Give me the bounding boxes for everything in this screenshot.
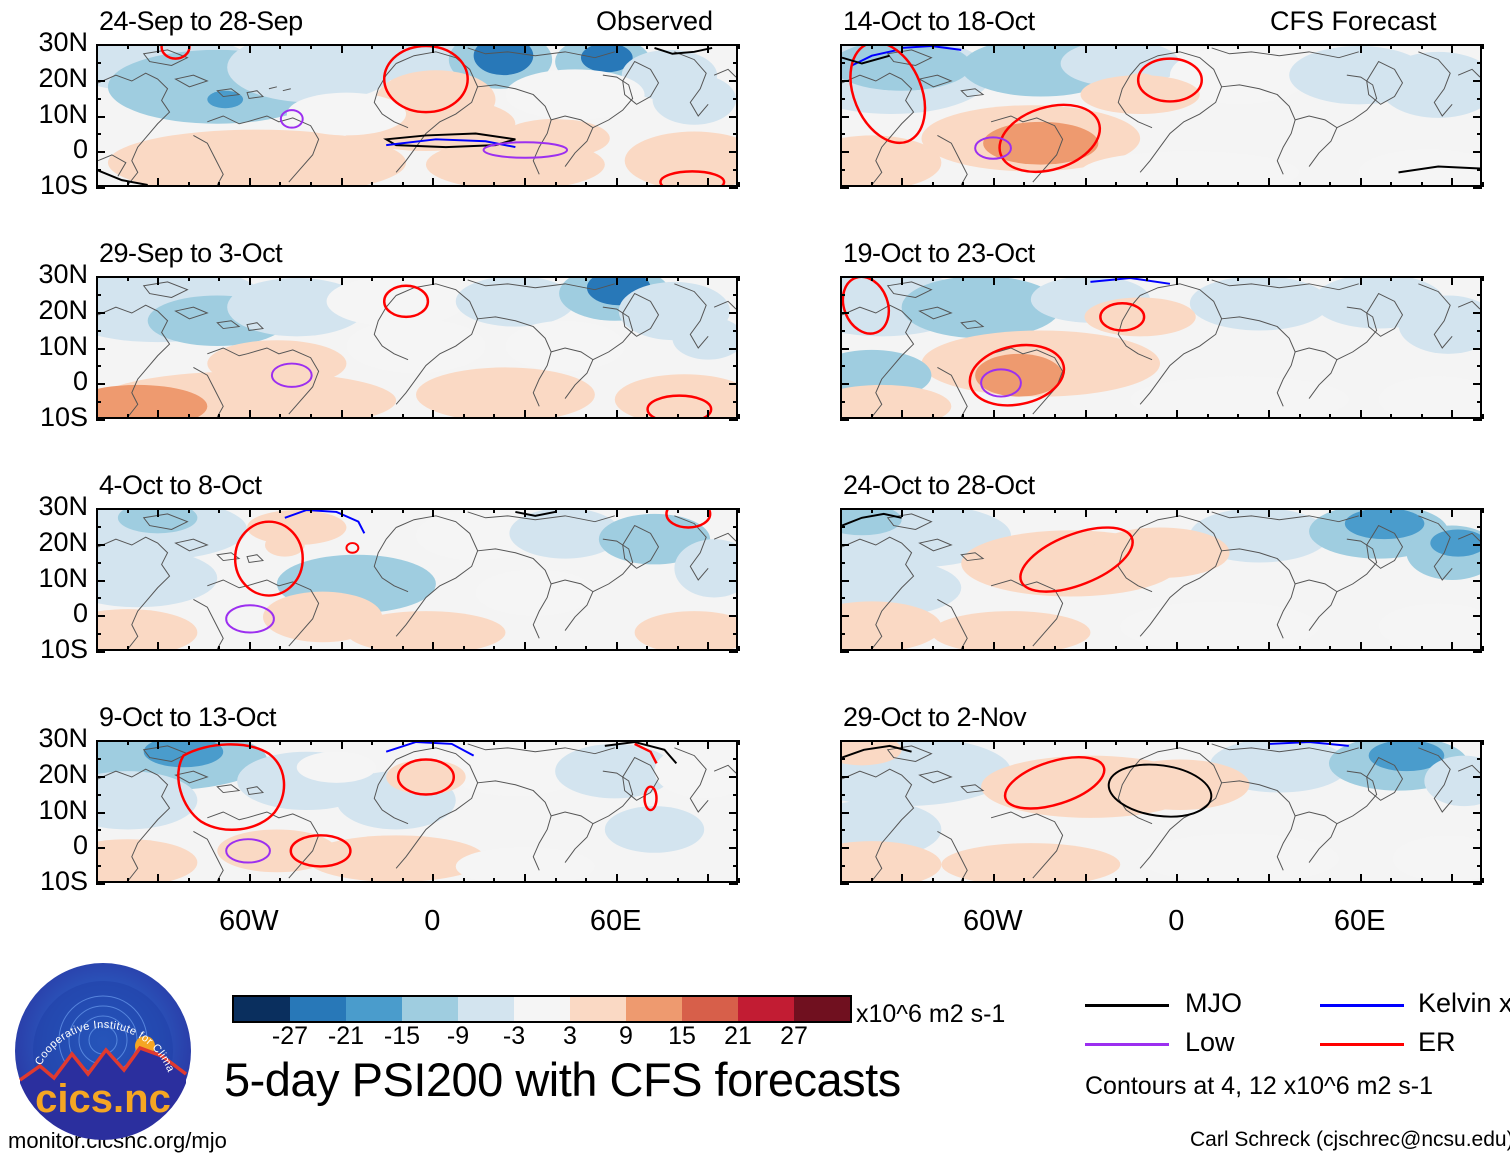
tick-mark [840, 133, 845, 135]
map-fcst-3 [842, 510, 1480, 649]
tick-mark [1268, 410, 1270, 419]
y-tick-label-10S-row2: 10S [0, 402, 88, 433]
tick-mark [932, 740, 934, 745]
tick-mark [1390, 508, 1392, 513]
tick-mark [1360, 874, 1362, 883]
tick-mark [585, 646, 587, 651]
colorbar-tick-3: 3 [540, 1022, 600, 1051]
tick-mark [96, 348, 105, 350]
tick-mark [733, 133, 738, 135]
tick-mark [1390, 878, 1392, 883]
colorbar-swatch-1[interactable] [290, 997, 346, 1021]
tick-mark [1421, 276, 1423, 281]
tick-mark [1146, 878, 1148, 883]
tick-mark [1115, 414, 1117, 419]
tick-mark [729, 651, 738, 653]
tick-mark [840, 401, 845, 403]
tick-mark [96, 330, 101, 332]
tick-mark [733, 98, 738, 100]
tick-mark [646, 44, 648, 49]
map-panel-fcst-4[interactable] [840, 740, 1482, 883]
colorbar-tick-9: 9 [596, 1022, 656, 1051]
y-tick-label-20N-row2: 20N [0, 295, 88, 326]
tick-mark [871, 276, 873, 281]
tick-mark [1329, 740, 1331, 745]
tick-mark [840, 883, 849, 885]
tick-mark [96, 401, 101, 403]
tick-mark [1299, 646, 1301, 651]
tick-mark [1054, 276, 1056, 281]
legend-line-mjo [1085, 1004, 1169, 1007]
tick-mark [840, 294, 845, 296]
colorbar-swatch-3[interactable] [402, 997, 458, 1021]
tick-mark [127, 646, 129, 651]
tick-mark [402, 740, 404, 745]
tick-mark [707, 410, 709, 419]
tick-mark [993, 874, 995, 883]
tick-mark [96, 633, 101, 635]
tick-mark [1482, 44, 1484, 49]
tick-mark [96, 847, 105, 849]
tick-mark [96, 80, 105, 82]
tick-mark [1054, 182, 1056, 187]
tick-mark [646, 508, 648, 513]
tick-mark [218, 414, 220, 419]
tick-mark [1115, 182, 1117, 187]
tick-mark [1477, 169, 1482, 171]
tick-mark [962, 276, 964, 281]
tick-mark [1268, 44, 1270, 53]
tick-mark [1482, 182, 1484, 187]
tick-mark [646, 878, 648, 883]
tick-mark [840, 597, 845, 599]
map-obs-3 [98, 510, 736, 649]
y-tick-label-0-row1: 0 [0, 134, 88, 165]
tick-mark [1451, 740, 1453, 749]
tick-mark [616, 276, 618, 285]
legend-label-er: ER [1418, 1027, 1456, 1058]
tick-mark [463, 182, 465, 187]
tick-mark [932, 276, 934, 281]
tick-mark [463, 276, 465, 281]
tick-mark [1237, 276, 1239, 281]
column-header-forecast: CFS Forecast [1270, 6, 1437, 37]
tick-mark [993, 276, 995, 285]
tick-mark [432, 642, 434, 651]
tick-mark [249, 642, 251, 651]
tick-mark [733, 401, 738, 403]
tick-mark [729, 187, 738, 189]
tick-mark [840, 615, 849, 617]
tick-mark [371, 646, 373, 651]
map-panel-fcst-3[interactable] [840, 508, 1482, 651]
tick-mark [729, 812, 738, 814]
tick-mark [962, 182, 964, 187]
tick-mark [127, 276, 129, 281]
tick-mark [96, 312, 105, 314]
tick-mark [1115, 276, 1117, 281]
tick-mark [729, 883, 738, 885]
tick-mark [871, 508, 873, 513]
tick-mark [616, 740, 618, 749]
y-tick-label-10N-row4: 10N [0, 795, 88, 826]
tick-mark [729, 276, 738, 278]
tick-mark [1477, 401, 1482, 403]
tick-mark [585, 508, 587, 513]
tick-mark [733, 633, 738, 635]
tick-mark [1085, 44, 1087, 53]
tick-mark [555, 740, 557, 745]
tick-mark [432, 178, 434, 187]
colorbar-tick--27: -27 [260, 1022, 320, 1051]
tick-mark [738, 44, 740, 49]
tick-mark [432, 740, 434, 749]
tick-mark [1054, 878, 1056, 883]
tick-mark [96, 740, 105, 742]
tick-mark [840, 740, 849, 742]
tick-mark [729, 348, 738, 350]
map-fcst-1 [842, 46, 1480, 185]
tick-mark [1299, 182, 1301, 187]
tick-mark [707, 508, 709, 517]
tick-mark [616, 44, 618, 53]
y-tick-label-20N-row4: 20N [0, 759, 88, 790]
tick-mark [493, 276, 495, 281]
tick-mark [1329, 44, 1331, 49]
tick-mark [432, 44, 434, 53]
tick-mark [901, 178, 903, 187]
tick-mark [341, 44, 343, 53]
tick-mark [738, 414, 740, 419]
tick-mark [1329, 646, 1331, 651]
tick-mark [157, 740, 159, 749]
tick-mark [96, 597, 101, 599]
tick-mark [733, 758, 738, 760]
tick-mark [585, 182, 587, 187]
tick-mark [1054, 508, 1056, 513]
tick-mark [1477, 597, 1482, 599]
tick-mark [555, 878, 557, 883]
tick-mark [1115, 740, 1117, 745]
tick-mark [96, 383, 105, 385]
tick-mark [677, 276, 679, 281]
tick-mark [1451, 410, 1453, 419]
tick-mark [341, 410, 343, 419]
tick-mark [1473, 580, 1482, 582]
tick-mark [1115, 878, 1117, 883]
map-panel-fcst-1[interactable] [840, 44, 1482, 187]
tick-mark [96, 187, 105, 189]
tick-mark [1115, 508, 1117, 513]
tick-mark [901, 740, 903, 749]
tick-mark [432, 508, 434, 517]
tick-mark [96, 758, 101, 760]
map-fcst-2 [842, 278, 1480, 417]
tick-mark [840, 633, 845, 635]
tick-mark [646, 276, 648, 281]
tick-mark [962, 44, 964, 49]
tick-mark [733, 829, 738, 831]
tick-mark [1146, 646, 1148, 651]
colorbar-swatch-5[interactable] [514, 997, 570, 1021]
panel-title-obs-4: 9-Oct to 13-Oct [99, 702, 276, 733]
tick-mark [738, 508, 740, 513]
tick-mark [279, 646, 281, 651]
tick-mark [733, 526, 738, 528]
tick-mark [1451, 642, 1453, 651]
tick-mark [1023, 276, 1025, 281]
logo-graphic: Cooperative Institute for Climate and Sa… [14, 962, 192, 1140]
y-tick-label-30N-row2: 30N [0, 259, 88, 290]
tick-mark [157, 178, 159, 187]
tick-mark [1023, 508, 1025, 513]
tick-mark [733, 365, 738, 367]
tick-mark [402, 878, 404, 883]
legend-line-kelvin [1320, 1004, 1404, 1007]
legend-line-low [1085, 1043, 1169, 1046]
tick-mark [1451, 874, 1453, 883]
tick-mark [677, 646, 679, 651]
y-tick-label-20N-row1: 20N [0, 63, 88, 94]
tick-mark [646, 740, 648, 745]
tick-mark [1023, 44, 1025, 49]
tick-mark [1023, 414, 1025, 419]
tick-mark [1054, 646, 1056, 651]
tick-mark [249, 44, 251, 53]
tick-mark [524, 508, 526, 517]
colorbar-swatch-8[interactable] [682, 997, 738, 1021]
tick-mark [1473, 80, 1482, 82]
tick-mark [1473, 776, 1482, 778]
tick-mark [729, 116, 738, 118]
tick-mark [96, 365, 101, 367]
tick-mark [840, 365, 845, 367]
tick-mark [371, 414, 373, 419]
tick-mark [341, 178, 343, 187]
tick-mark [371, 44, 373, 49]
tick-mark [341, 740, 343, 749]
tick-mark [218, 646, 220, 651]
tick-mark [840, 419, 849, 421]
tick-mark [1207, 182, 1209, 187]
tick-mark [188, 44, 190, 49]
tick-mark [341, 874, 343, 883]
tick-mark [707, 44, 709, 53]
tick-mark [840, 169, 845, 171]
tick-mark [249, 740, 251, 749]
tick-mark [646, 414, 648, 419]
map-panel-obs-3[interactable] [96, 508, 738, 651]
tick-mark [1207, 44, 1209, 49]
legend-label-kelvin: Kelvin x2 [1418, 988, 1510, 1019]
tick-mark [463, 740, 465, 745]
map-panel-obs-4[interactable] [96, 740, 738, 883]
tick-mark [310, 276, 312, 281]
tick-mark [1085, 178, 1087, 187]
panel-title-fcst-4: 29-Oct to 2-Nov [843, 702, 1026, 733]
tick-mark [1360, 178, 1362, 187]
map-panel-obs-2[interactable] [96, 276, 738, 419]
tick-mark [1473, 883, 1482, 885]
tick-mark [729, 776, 738, 778]
tick-mark [524, 276, 526, 285]
tick-mark [402, 182, 404, 187]
tick-mark [993, 44, 995, 53]
panel-title-fcst-1: 14-Oct to 18-Oct [843, 6, 1035, 37]
tick-mark [840, 187, 849, 189]
tick-mark [188, 276, 190, 281]
tick-mark [279, 878, 281, 883]
tick-mark [962, 740, 964, 745]
colorbar-swatch-2[interactable] [346, 997, 402, 1021]
colorbar-swatch-4[interactable] [458, 997, 514, 1021]
tick-mark [1268, 740, 1270, 749]
tick-mark [218, 878, 220, 883]
tick-mark [707, 740, 709, 749]
tick-mark [616, 874, 618, 883]
tick-mark [901, 276, 903, 285]
tick-mark [840, 758, 845, 760]
tick-mark [1477, 865, 1482, 867]
tick-mark [1473, 651, 1482, 653]
tick-mark [96, 812, 105, 814]
tick-mark [310, 414, 312, 419]
tick-mark [1329, 414, 1331, 419]
tick-mark [707, 178, 709, 187]
tick-mark [249, 874, 251, 883]
tick-mark [310, 740, 312, 745]
tick-mark [1477, 133, 1482, 135]
tick-mark [1085, 410, 1087, 419]
tick-mark [1299, 878, 1301, 883]
tick-mark [96, 651, 105, 653]
tick-mark [341, 276, 343, 285]
tick-mark [1421, 508, 1423, 513]
colorbar-swatch-9[interactable] [738, 997, 794, 1021]
tick-mark [555, 44, 557, 49]
colorbar-unit-label: x10^6 m2 s-1 [856, 1000, 1005, 1029]
tick-mark [840, 544, 849, 546]
map-panel-fcst-2[interactable] [840, 276, 1482, 419]
tick-mark [932, 878, 934, 883]
tick-mark [993, 642, 995, 651]
tick-mark [585, 740, 587, 745]
tick-mark [707, 276, 709, 285]
tick-mark [1176, 874, 1178, 883]
tick-mark [555, 182, 557, 187]
tick-mark [96, 133, 101, 135]
tick-mark [1477, 62, 1482, 64]
colorbar-swatch-6[interactable] [570, 997, 626, 1021]
tick-mark [96, 151, 105, 153]
tick-mark [1299, 414, 1301, 419]
tick-mark [96, 562, 101, 564]
tick-mark [127, 44, 129, 49]
tick-mark [432, 874, 434, 883]
tick-mark [96, 508, 105, 510]
tick-mark [96, 169, 101, 171]
tick-mark [1237, 44, 1239, 49]
tick-mark [1390, 44, 1392, 49]
tick-mark [840, 98, 845, 100]
tick-mark [1085, 508, 1087, 517]
tick-mark [840, 383, 849, 385]
tick-mark [932, 508, 934, 513]
tick-mark [1237, 646, 1239, 651]
tick-mark [1023, 646, 1025, 651]
y-tick-label-0-row4: 0 [0, 830, 88, 861]
tick-mark [555, 276, 557, 281]
tick-mark [1054, 414, 1056, 419]
y-tick-label-10S-row3: 10S [0, 634, 88, 665]
tick-mark [157, 874, 159, 883]
x-tick-label-60W-col2: 60W [933, 905, 1053, 938]
colorbar-swatch-7[interactable] [626, 997, 682, 1021]
tick-mark [1329, 276, 1331, 281]
tick-mark [402, 414, 404, 419]
tick-mark [616, 178, 618, 187]
tick-mark [1421, 740, 1423, 745]
tick-mark [555, 414, 557, 419]
colorbar-swatch-10[interactable] [794, 997, 850, 1021]
tick-mark [463, 878, 465, 883]
tick-mark [677, 740, 679, 745]
tick-mark [1473, 44, 1482, 46]
tick-mark [901, 508, 903, 517]
tick-mark [1473, 116, 1482, 118]
tick-mark [733, 865, 738, 867]
tick-mark [1207, 276, 1209, 281]
tick-mark [524, 410, 526, 419]
tick-mark [1176, 642, 1178, 651]
colorbar[interactable] [232, 995, 852, 1023]
tick-mark [840, 312, 849, 314]
tick-mark [371, 740, 373, 745]
tick-mark [157, 410, 159, 419]
tick-mark [840, 276, 849, 278]
tick-mark [1477, 526, 1482, 528]
y-tick-label-10N-row2: 10N [0, 331, 88, 362]
map-panel-obs-1[interactable] [96, 44, 738, 187]
tick-mark [279, 44, 281, 49]
cics-nc-logo: Cooperative Institute for Climate and Sa… [14, 962, 192, 1140]
colorbar-tick-27: 27 [764, 1022, 824, 1051]
tick-mark [127, 878, 129, 883]
tick-mark [218, 740, 220, 745]
tick-mark [840, 116, 849, 118]
tick-mark [646, 182, 648, 187]
tick-mark [1085, 740, 1087, 749]
tick-mark [1023, 182, 1025, 187]
tick-mark [1473, 383, 1482, 385]
tick-mark [932, 182, 934, 187]
tick-mark [646, 646, 648, 651]
legend-label-mjo: MJO [1185, 988, 1242, 1019]
legend-line-er [1320, 1043, 1404, 1046]
tick-mark [1176, 740, 1178, 749]
tick-mark [96, 829, 101, 831]
tick-mark [840, 812, 849, 814]
tick-mark [96, 580, 105, 582]
tick-mark [218, 508, 220, 513]
tick-mark [729, 508, 738, 510]
tick-mark [249, 508, 251, 517]
tick-mark [371, 182, 373, 187]
colorbar-swatch-0[interactable] [234, 997, 290, 1021]
tick-mark [729, 740, 738, 742]
tick-mark [371, 508, 373, 513]
tick-mark [729, 544, 738, 546]
